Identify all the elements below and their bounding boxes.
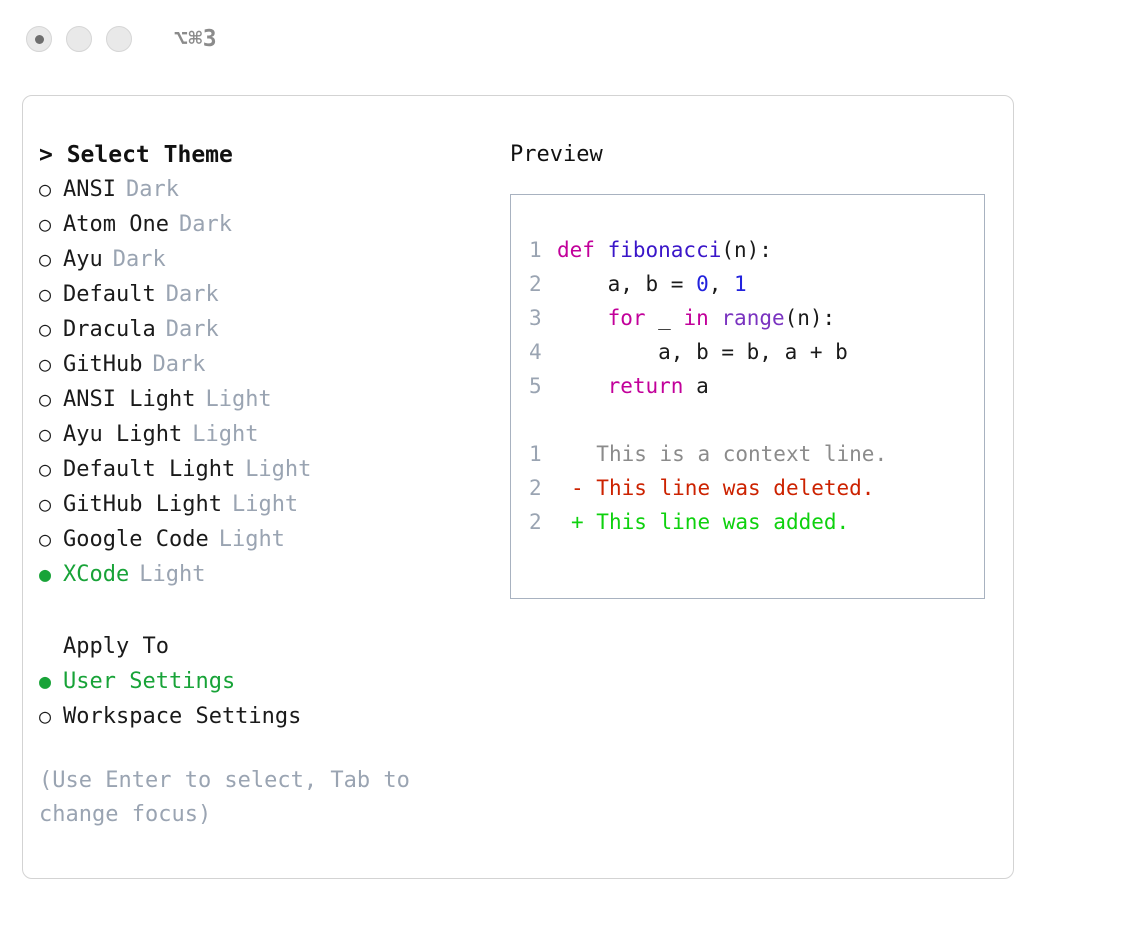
theme-option-tag: Dark <box>166 278 219 312</box>
theme-option-label: Default Light <box>63 453 235 487</box>
code-line-number: 3 <box>529 301 557 335</box>
code-line-text: def fibonacci(n): <box>557 233 772 267</box>
theme-option-github[interactable]: ○GitHubDark <box>39 347 488 382</box>
theme-option-ansi-light[interactable]: ○ANSI LightLight <box>39 382 488 417</box>
code-line-number: 2 <box>529 267 557 301</box>
code-line-text: return a <box>557 369 709 403</box>
apply-to-heading: Apply To <box>39 630 488 664</box>
spacer <box>39 734 488 764</box>
diff-line-text: This is a context line. <box>596 437 887 471</box>
theme-option-label: Google Code <box>63 523 209 557</box>
code-token: a <box>683 374 708 398</box>
diff-line-number: 2 <box>529 471 557 505</box>
keyboard-shortcut-label: ⌥⌘3 <box>174 26 217 52</box>
theme-option-ayu[interactable]: ○AyuDark <box>39 242 488 277</box>
theme-option-tag: Dark <box>179 208 232 242</box>
code-sample: 1def fibonacci(n):2 a, b = 0, 13 for _ i… <box>529 233 984 403</box>
code-token: return <box>608 374 684 398</box>
code-token <box>557 374 608 398</box>
code-token: (n): <box>785 306 836 330</box>
apply-to-option-user-settings[interactable]: ●User Settings <box>39 664 488 699</box>
theme-option-label: XCode <box>63 558 129 592</box>
code-line-text: a, b = b, a + b <box>557 335 848 369</box>
code-line-text: a, b = 0, 1 <box>557 267 747 301</box>
radio-empty-icon: ○ <box>39 207 63 241</box>
apply-to-option-label: Workspace Settings <box>63 700 301 734</box>
theme-picker-column: > Select Theme ○ANSIDark○Atom OneDark○Ay… <box>23 138 488 832</box>
window-dot-inner-icon <box>35 35 44 44</box>
radio-empty-icon: ○ <box>39 277 63 311</box>
code-line: 1def fibonacci(n): <box>529 233 984 267</box>
diff-line: 1 This is a context line. <box>529 437 984 471</box>
radio-empty-icon: ○ <box>39 312 63 346</box>
theme-option-tag: Light <box>245 453 311 487</box>
theme-list: ○ANSIDark○Atom OneDark○AyuDark○DefaultDa… <box>39 172 488 592</box>
theme-option-tag: Dark <box>113 243 166 277</box>
theme-option-xcode[interactable]: ●XCodeLight <box>39 557 488 592</box>
code-token: for <box>608 306 646 330</box>
code-token: a, b = b, a + b <box>557 340 848 364</box>
diff-line-text: This line was deleted. <box>596 471 874 505</box>
radio-empty-icon: ○ <box>39 452 63 486</box>
keyboard-hint: (Use Enter to select, Tab to change focu… <box>39 764 439 832</box>
radio-empty-icon: ○ <box>39 242 63 276</box>
preview-column: Preview 1def fibonacci(n):2 a, b = 0, 13… <box>488 138 985 832</box>
radio-empty-icon: ○ <box>39 172 63 206</box>
diff-marker <box>557 437 596 471</box>
theme-option-ansi[interactable]: ○ANSIDark <box>39 172 488 207</box>
theme-option-label: GitHub <box>63 348 142 382</box>
theme-option-label: ANSI <box>63 173 116 207</box>
diff-marker: + <box>557 505 596 539</box>
radio-selected-icon: ● <box>39 557 63 591</box>
theme-option-tag: Light <box>192 418 258 452</box>
code-line: 5 return a <box>529 369 984 403</box>
spacer <box>39 592 488 630</box>
diff-line-number: 2 <box>529 505 557 539</box>
preview-box: 1def fibonacci(n):2 a, b = 0, 13 for _ i… <box>510 194 985 599</box>
code-token: in <box>683 306 708 330</box>
theme-option-label: ANSI Light <box>63 383 195 417</box>
window-dot-active-icon[interactable] <box>26 26 52 52</box>
theme-option-label: Default <box>63 278 156 312</box>
apply-to-list: ●User Settings○Workspace Settings <box>39 664 488 734</box>
theme-option-label: Dracula <box>63 313 156 347</box>
window-dot-2-icon[interactable] <box>66 26 92 52</box>
main-panel: > Select Theme ○ANSIDark○Atom OneDark○Ay… <box>22 95 1014 879</box>
diff-line: 2+ This line was added. <box>529 505 984 539</box>
diff-marker: - <box>557 471 596 505</box>
select-theme-heading: > Select Theme <box>39 138 488 172</box>
theme-option-label: Ayu Light <box>63 418 182 452</box>
code-token: 0 <box>696 272 709 296</box>
theme-option-default-light[interactable]: ○Default LightLight <box>39 452 488 487</box>
radio-empty-icon: ○ <box>39 347 63 381</box>
code-line-number: 4 <box>529 335 557 369</box>
theme-option-tag: Dark <box>166 313 219 347</box>
radio-selected-icon: ● <box>39 664 63 698</box>
theme-option-tag: Light <box>139 558 205 592</box>
code-line: 4 a, b = b, a + b <box>529 335 984 369</box>
preview-title: Preview <box>510 138 985 172</box>
radio-empty-icon: ○ <box>39 417 63 451</box>
spacer <box>529 403 984 437</box>
theme-option-ayu-light[interactable]: ○Ayu LightLight <box>39 417 488 452</box>
theme-option-tag: Light <box>219 523 285 557</box>
theme-option-atom-one[interactable]: ○Atom OneDark <box>39 207 488 242</box>
code-token: a, b = <box>557 272 696 296</box>
window-controls <box>26 26 132 52</box>
radio-empty-icon: ○ <box>39 699 63 733</box>
code-token: _ <box>646 306 684 330</box>
code-line: 2 a, b = 0, 1 <box>529 267 984 301</box>
theme-option-github-light[interactable]: ○GitHub LightLight <box>39 487 488 522</box>
apply-to-option-workspace-settings[interactable]: ○Workspace Settings <box>39 699 488 734</box>
theme-option-tag: Light <box>205 383 271 417</box>
radio-empty-icon: ○ <box>39 487 63 521</box>
window-dot-3-icon[interactable] <box>106 26 132 52</box>
code-line-text: for _ in range(n): <box>557 301 835 335</box>
radio-empty-icon: ○ <box>39 522 63 556</box>
code-token: def <box>557 238 608 262</box>
radio-empty-icon: ○ <box>39 382 63 416</box>
code-line-number: 1 <box>529 233 557 267</box>
theme-option-label: Atom One <box>63 208 169 242</box>
code-token <box>557 306 608 330</box>
theme-option-tag: Dark <box>152 348 205 382</box>
diff-line: 2- This line was deleted. <box>529 471 984 505</box>
diff-sample: 1 This is a context line.2- This line wa… <box>529 437 984 539</box>
theme-option-label: Ayu <box>63 243 103 277</box>
theme-option-label: GitHub Light <box>63 488 222 522</box>
diff-line-text: This line was added. <box>596 505 849 539</box>
theme-option-google-code[interactable]: ○Google CodeLight <box>39 522 488 557</box>
code-token: (n): <box>721 238 772 262</box>
code-token: , <box>709 272 734 296</box>
code-token: 1 <box>734 272 747 296</box>
code-line: 3 for _ in range(n): <box>529 301 984 335</box>
theme-option-tag: Light <box>232 488 298 522</box>
diff-line-number: 1 <box>529 437 557 471</box>
title-bar: ⌥⌘3 <box>0 0 1140 78</box>
code-token: fibonacci <box>608 238 722 262</box>
theme-option-tag: Dark <box>126 173 179 207</box>
code-token: range <box>721 306 784 330</box>
code-token <box>709 306 722 330</box>
code-line-number: 5 <box>529 369 557 403</box>
theme-option-default[interactable]: ○DefaultDark <box>39 277 488 312</box>
apply-to-option-label: User Settings <box>63 665 235 699</box>
app-window: ⌥⌘3 > Select Theme ○ANSIDark○Atom OneDar… <box>0 0 1140 934</box>
theme-option-dracula[interactable]: ○DraculaDark <box>39 312 488 347</box>
